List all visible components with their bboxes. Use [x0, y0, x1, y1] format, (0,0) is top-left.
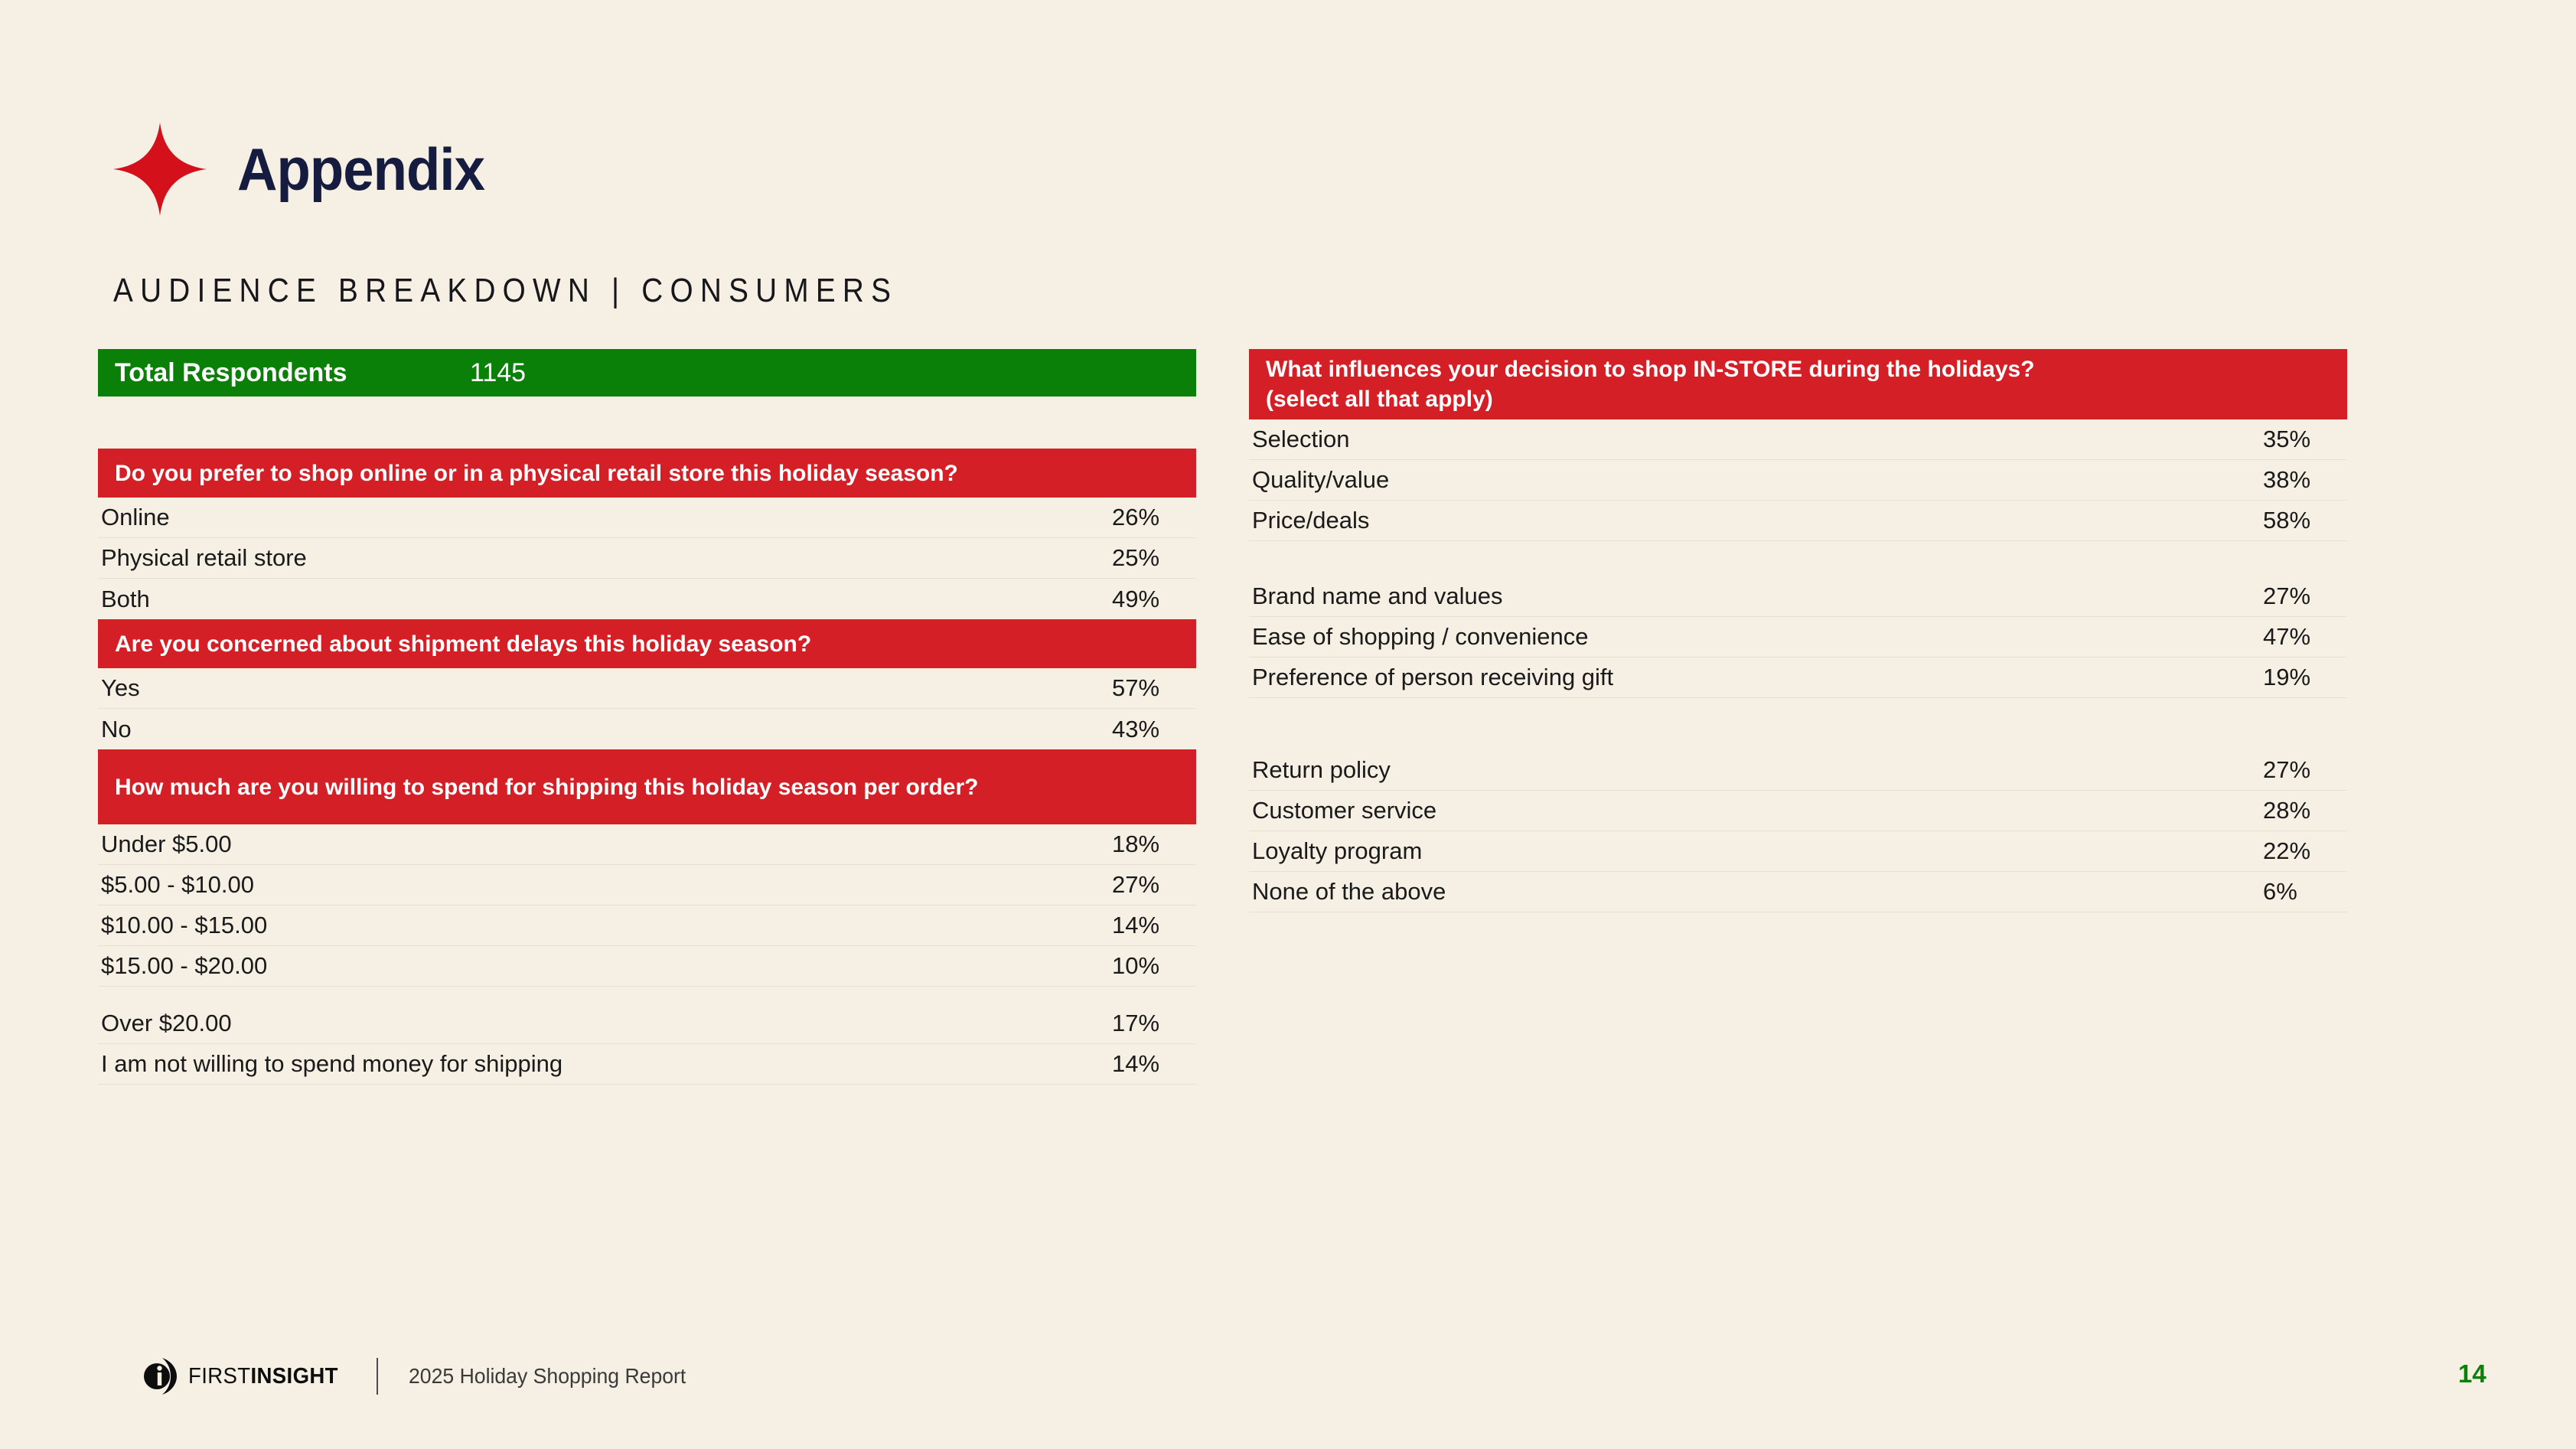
- first-insight-wordmark: FIRSTINSIGHT: [188, 1364, 338, 1389]
- row-label: Quality/value: [1249, 466, 2164, 494]
- question-text: Are you concerned about shipment delays …: [115, 629, 811, 659]
- question-header-online-vs-store: Do you prefer to shop online or in a phy…: [98, 449, 1196, 498]
- table-row: Price/deals 58%: [1249, 501, 2347, 541]
- table-row: Loyalty program 22%: [1249, 831, 2347, 872]
- row-value: 26%: [1012, 504, 1196, 531]
- row-label: Loyalty program: [1249, 837, 2164, 865]
- table-row: $10.00 - $15.00 14%: [98, 906, 1196, 946]
- row-label: $15.00 - $20.00: [98, 952, 1012, 980]
- row-label: $5.00 - $10.00: [98, 871, 1012, 899]
- slide-footer: FIRSTINSIGHT 2025 Holiday Shopping Repor…: [142, 1356, 701, 1396]
- question-text-line1: What influences your decision to shop IN…: [1266, 354, 2035, 384]
- row-value: 22%: [2164, 837, 2347, 865]
- table-row: Quality/value 38%: [1249, 460, 2347, 501]
- right-column: What influences your decision to shop IN…: [1249, 349, 2347, 912]
- answer-rows-shipment-delays: Yes 57% No 43%: [98, 668, 1196, 749]
- row-value: 43%: [1012, 716, 1196, 743]
- row-label: Both: [98, 586, 1012, 613]
- row-value: 18%: [1012, 831, 1196, 858]
- question-header-in-store-influences: What influences your decision to shop IN…: [1249, 349, 2347, 419]
- section-subtitle: AUDIENCE BREAKDOWN | CONSUMERS: [113, 272, 898, 310]
- row-label: Price/deals: [1249, 507, 2164, 534]
- row-value: 27%: [2164, 583, 2347, 610]
- row-value: 10%: [1012, 952, 1196, 980]
- logo-insight: INSIGHT: [250, 1364, 337, 1389]
- row-label: $10.00 - $15.00: [98, 912, 1012, 939]
- row-label: Customer service: [1249, 797, 2164, 824]
- page-title: Appendix: [237, 139, 484, 199]
- row-value: 19%: [2164, 664, 2347, 691]
- row-value: 49%: [1012, 586, 1196, 613]
- footer-divider: [377, 1358, 378, 1395]
- row-value: 28%: [2164, 797, 2347, 824]
- sparkle-icon: [113, 122, 207, 216]
- spacer: [1249, 698, 2347, 750]
- table-row: Ease of shopping / convenience 47%: [1249, 617, 2347, 658]
- total-respondents-value: 1145: [98, 358, 1196, 388]
- row-label: Online: [98, 504, 1012, 531]
- answer-rows-group-1: Selection 35% Quality/value 38% Price/de…: [1249, 419, 2347, 541]
- row-value: 14%: [1012, 1050, 1196, 1078]
- slide-header: Appendix: [113, 122, 503, 216]
- row-label: Brand name and values: [1249, 583, 2164, 610]
- row-label: Yes: [98, 674, 1012, 702]
- table-row: Both 49%: [98, 579, 1196, 619]
- table-row: Over $20.00 17%: [98, 1004, 1196, 1044]
- row-value: 6%: [2164, 878, 2347, 906]
- first-insight-logo: FIRSTINSIGHT: [142, 1356, 346, 1396]
- answer-rows-online-vs-store: Online 26% Physical retail store 25% Bot…: [98, 498, 1196, 619]
- question-header-shipment-delays: Are you concerned about shipment delays …: [98, 619, 1196, 668]
- row-label: Under $5.00: [98, 831, 1012, 858]
- row-value: 17%: [1012, 1010, 1196, 1037]
- answer-rows-shipping-spend: Under $5.00 18% $5.00 - $10.00 27% $10.0…: [98, 824, 1196, 1085]
- row-value: 58%: [2164, 507, 2347, 534]
- row-value: 38%: [2164, 466, 2347, 494]
- row-value: 57%: [1012, 674, 1196, 702]
- row-label: I am not willing to spend money for ship…: [98, 1050, 1012, 1078]
- row-value: 25%: [1012, 544, 1196, 572]
- row-label: Physical retail store: [98, 544, 1012, 572]
- answer-rows-group-3: Return policy 27% Customer service 28% L…: [1249, 750, 2347, 912]
- table-row: None of the above 6%: [1249, 872, 2347, 912]
- row-label: Preference of person receiving gift: [1249, 664, 2164, 691]
- table-row: Online 26%: [98, 498, 1196, 538]
- table-row: Return policy 27%: [1249, 750, 2347, 791]
- question-text: Do you prefer to shop online or in a phy…: [115, 459, 958, 488]
- row-value: 27%: [2164, 756, 2347, 784]
- answer-rows-group-2: Brand name and values 27% Ease of shoppi…: [1249, 576, 2347, 698]
- table-row: $5.00 - $10.00 27%: [98, 865, 1196, 906]
- row-label: Over $20.00: [98, 1010, 1012, 1037]
- question-text: How much are you willing to spend for sh…: [115, 772, 978, 802]
- table-row: Physical retail store 25%: [98, 538, 1196, 579]
- spacer: [98, 987, 1196, 1004]
- table-row: I am not willing to spend money for ship…: [98, 1044, 1196, 1085]
- table-row: Customer service 28%: [1249, 791, 2347, 831]
- row-label: Return policy: [1249, 756, 2164, 784]
- table-row: $15.00 - $20.00 10%: [98, 946, 1196, 987]
- report-name: 2025 Holiday Shopping Report: [409, 1364, 686, 1389]
- table-row: No 43%: [98, 709, 1196, 749]
- question-header-shipping-spend: How much are you willing to spend for sh…: [98, 749, 1196, 824]
- spacer: [98, 397, 1196, 449]
- page-number: 14: [2458, 1359, 2486, 1389]
- row-label: No: [98, 716, 1012, 743]
- row-label: Selection: [1249, 426, 2164, 453]
- table-row: Under $5.00 18%: [98, 824, 1196, 865]
- row-label: Ease of shopping / convenience: [1249, 623, 2164, 651]
- table-row: Preference of person receiving gift 19%: [1249, 658, 2347, 698]
- total-respondents-bar: Total Respondents 1145: [98, 349, 1196, 397]
- table-row: Brand name and values 27%: [1249, 576, 2347, 617]
- row-label: None of the above: [1249, 878, 2164, 906]
- logo-first: FIRST: [188, 1364, 250, 1389]
- row-value: 14%: [1012, 912, 1196, 939]
- table-row: Yes 57%: [98, 668, 1196, 709]
- row-value: 35%: [2164, 426, 2347, 453]
- left-column: Total Respondents 1145 Do you prefer to …: [98, 349, 1196, 1085]
- first-insight-mark-icon: [142, 1356, 178, 1396]
- spacer: [1249, 541, 2347, 576]
- question-text-line2: (select all that apply): [1266, 384, 2035, 414]
- table-row: Selection 35%: [1249, 419, 2347, 460]
- row-value: 47%: [2164, 623, 2347, 651]
- row-value: 27%: [1012, 871, 1196, 899]
